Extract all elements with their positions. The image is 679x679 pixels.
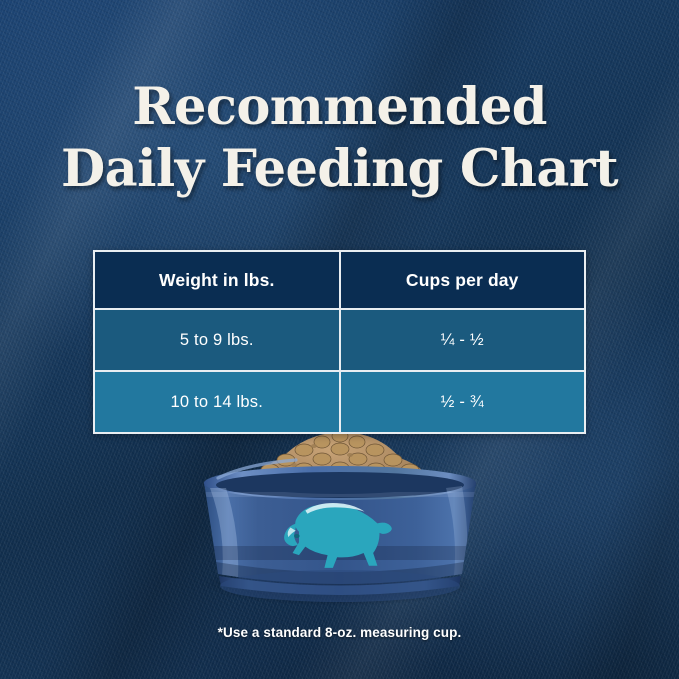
column-header-cups: Cups per day (340, 251, 586, 309)
cell-cups: ¼ - ½ (340, 309, 586, 371)
dog-food-bowl-illustration (186, 428, 494, 606)
cell-weight: 10 to 14 lbs. (94, 371, 340, 433)
footnote-text: *Use a standard 8-oz. measuring cup. (0, 625, 679, 640)
page-title: Recommended Daily Feeding Chart (0, 76, 679, 200)
table-row: 5 to 9 lbs. ¼ - ½ (94, 309, 585, 371)
page-title-line-2: Daily Feeding Chart (0, 138, 679, 200)
table-row: 10 to 14 lbs. ½ - ¾ (94, 371, 585, 433)
page-title-line-1: Recommended (0, 76, 679, 138)
feeding-chart-table: Weight in lbs. Cups per day 5 to 9 lbs. … (93, 250, 586, 434)
table-header-row: Weight in lbs. Cups per day (94, 251, 585, 309)
cell-cups: ½ - ¾ (340, 371, 586, 433)
column-header-weight: Weight in lbs. (94, 251, 340, 309)
cell-weight: 5 to 9 lbs. (94, 309, 340, 371)
